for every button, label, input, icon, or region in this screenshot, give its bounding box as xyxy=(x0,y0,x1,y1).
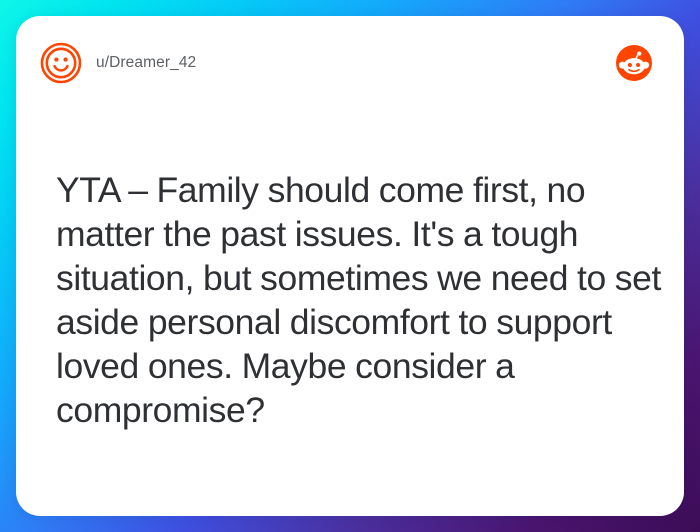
smiley-face-avatar-icon[interactable] xyxy=(40,42,82,84)
gradient-background: u/Dreamer_42 xyxy=(0,0,700,532)
comment-text: YTA – Family should come first, no matte… xyxy=(56,168,670,432)
reddit-comment-card: u/Dreamer_42 xyxy=(16,16,684,516)
card-header: u/Dreamer_42 xyxy=(16,16,684,110)
reddit-snoo-icon[interactable] xyxy=(616,45,652,81)
username-label: u/Dreamer_42 xyxy=(96,54,196,72)
